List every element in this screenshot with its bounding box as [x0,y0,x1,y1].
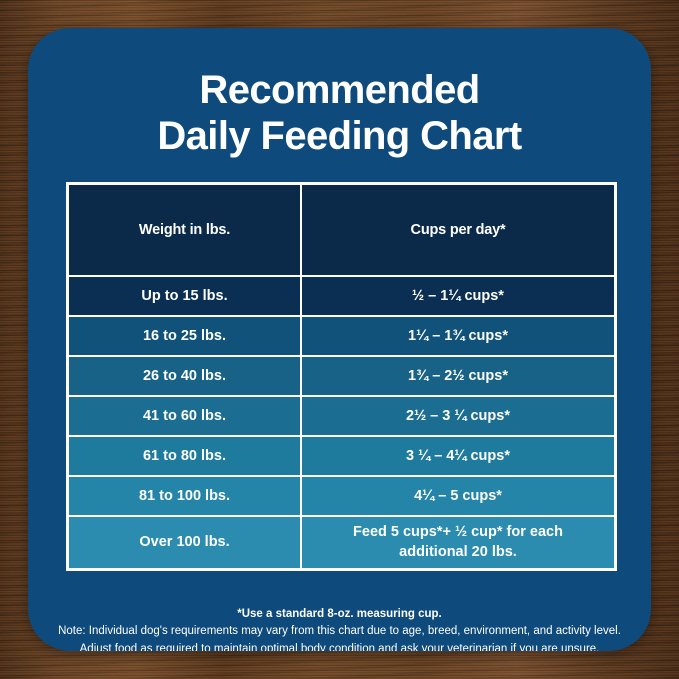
cell-weight: 81 to 100 lbs. [68,476,301,516]
table-row: 81 to 100 lbs. 4¼ – 5 cups* [68,476,615,516]
cell-weight: 16 to 25 lbs. [68,316,301,356]
footnote-block: *Use a standard 8-oz. measuring cup. Not… [28,606,651,651]
cell-cups-line-1: Feed 5 cups*+ ½ cup* for each [353,524,563,540]
column-header-weight: Weight in lbs. [68,184,301,276]
footnote-measuring-cup: *Use a standard 8-oz. measuring cup. [42,606,637,623]
title-line-1: Recommended [58,68,621,114]
cell-weight: 26 to 40 lbs. [68,356,301,396]
table-row: 61 to 80 lbs. 3 ¼ – 4¼ cups* [68,436,615,476]
cell-cups: ½ – 1¼ cups* [301,276,615,316]
footnote-adjust-note: Adjust food as required to maintain opti… [42,641,637,652]
cell-cups: 4¼ – 5 cups* [301,476,615,516]
cell-cups: Feed 5 cups*+ ½ cup* for each additional… [301,516,615,569]
cell-cups: 1¾ – 2½ cups* [301,356,615,396]
cell-cups: 2½ – 3 ¼ cups* [301,396,615,436]
cell-cups: 1¼ – 1¾ cups* [301,316,615,356]
title-line-2: Daily Feeding Chart [58,114,621,160]
cell-cups-line-2: additional 20 lbs. [399,544,517,560]
column-header-cups: Cups per day* [301,184,615,276]
table-row: 41 to 60 lbs. 2½ – 3 ¼ cups* [68,396,615,436]
table-row: 26 to 40 lbs. 1¾ – 2½ cups* [68,356,615,396]
cell-weight: Over 100 lbs. [68,516,301,569]
table-row: 16 to 25 lbs. 1¼ – 1¾ cups* [68,316,615,356]
footnote-variation-note: Note: Individual dog's requirements may … [42,623,637,640]
table-row: Over 100 lbs. Feed 5 cups*+ ½ cup* for e… [68,516,615,569]
cell-cups: 3 ¼ – 4¼ cups* [301,436,615,476]
cell-weight: 41 to 60 lbs. [68,396,301,436]
cell-weight: Up to 15 lbs. [68,276,301,316]
table-header-row: Weight in lbs. Cups per day* [68,184,615,276]
cell-weight: 61 to 80 lbs. [68,436,301,476]
table-row: Up to 15 lbs. ½ – 1¼ cups* [68,276,615,316]
page-title: Recommended Daily Feeding Chart [28,68,651,159]
feeding-chart-card: Recommended Daily Feeding Chart Weight i… [28,28,651,651]
feeding-chart-table: Weight in lbs. Cups per day* Up to 15 lb… [66,182,617,571]
